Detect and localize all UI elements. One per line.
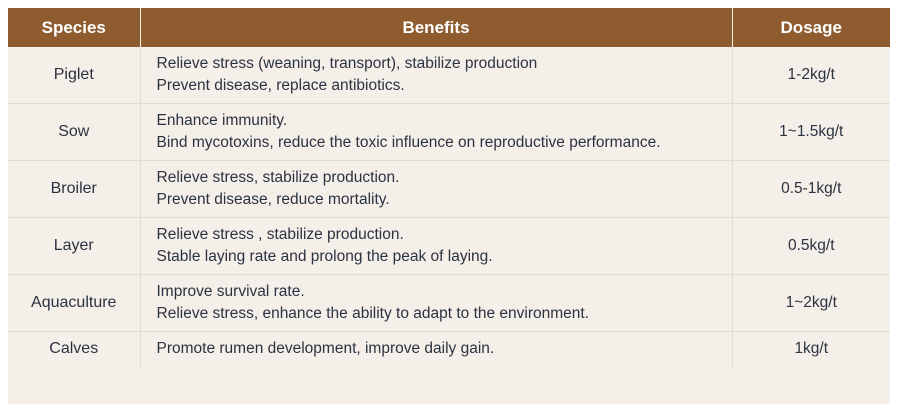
benefits-cell: Enhance immunity.Bind mycotoxins, reduce… [140,104,732,161]
species-benefits-table-container: Species Benefits Dosage PigletRelieve st… [8,8,890,404]
benefit-line: Prevent disease, replace antibiotics. [157,75,718,97]
column-header-species: Species [8,8,140,47]
benefit-line: Relieve stress, stabilize production. [157,167,718,189]
table-row: CalvesPromote rumen development, improve… [8,332,890,367]
table-row: SowEnhance immunity.Bind mycotoxins, red… [8,104,890,161]
table-header-row: Species Benefits Dosage [8,8,890,47]
benefit-line: Promote rumen development, improve daily… [157,338,718,360]
dosage-cell: 0.5-1kg/t [732,161,890,218]
species-cell: Aquaculture [8,275,140,332]
benefit-line: Bind mycotoxins, reduce the toxic influe… [157,132,718,154]
benefits-cell: Relieve stress, stabilize production.Pre… [140,161,732,218]
column-header-dosage: Dosage [732,8,890,47]
species-benefits-table: Species Benefits Dosage PigletRelieve st… [8,8,890,366]
species-cell: Broiler [8,161,140,218]
benefit-line: Improve survival rate. [157,281,718,303]
species-cell: Sow [8,104,140,161]
benefits-cell: Promote rumen development, improve daily… [140,332,732,367]
benefit-line: Enhance immunity. [157,110,718,132]
benefit-line: Relieve stress, enhance the ability to a… [157,303,718,325]
species-cell: Layer [8,218,140,275]
dosage-cell: 1~1.5kg/t [732,104,890,161]
benefit-line: Stable laying rate and prolong the peak … [157,246,718,268]
table-row: PigletRelieve stress (weaning, transport… [8,47,890,104]
benefit-line: Relieve stress , stabilize production. [157,224,718,246]
dosage-cell: 1-2kg/t [732,47,890,104]
dosage-cell: 0.5kg/t [732,218,890,275]
benefits-cell: Relieve stress (weaning, transport), sta… [140,47,732,104]
dosage-cell: 1kg/t [732,332,890,367]
table-row: LayerRelieve stress , stabilize producti… [8,218,890,275]
column-header-benefits: Benefits [140,8,732,47]
species-cell: Piglet [8,47,140,104]
dosage-cell: 1~2kg/t [732,275,890,332]
table-row: BroilerRelieve stress, stabilize product… [8,161,890,218]
benefit-line: Relieve stress (weaning, transport), sta… [157,53,718,75]
benefits-cell: Improve survival rate.Relieve stress, en… [140,275,732,332]
species-cell: Calves [8,332,140,367]
benefit-line: Prevent disease, reduce mortality. [157,189,718,211]
table-header: Species Benefits Dosage [8,8,890,47]
benefits-cell: Relieve stress , stabilize production.St… [140,218,732,275]
table-row: AquacultureImprove survival rate.Relieve… [8,275,890,332]
table-body: PigletRelieve stress (weaning, transport… [8,47,890,366]
